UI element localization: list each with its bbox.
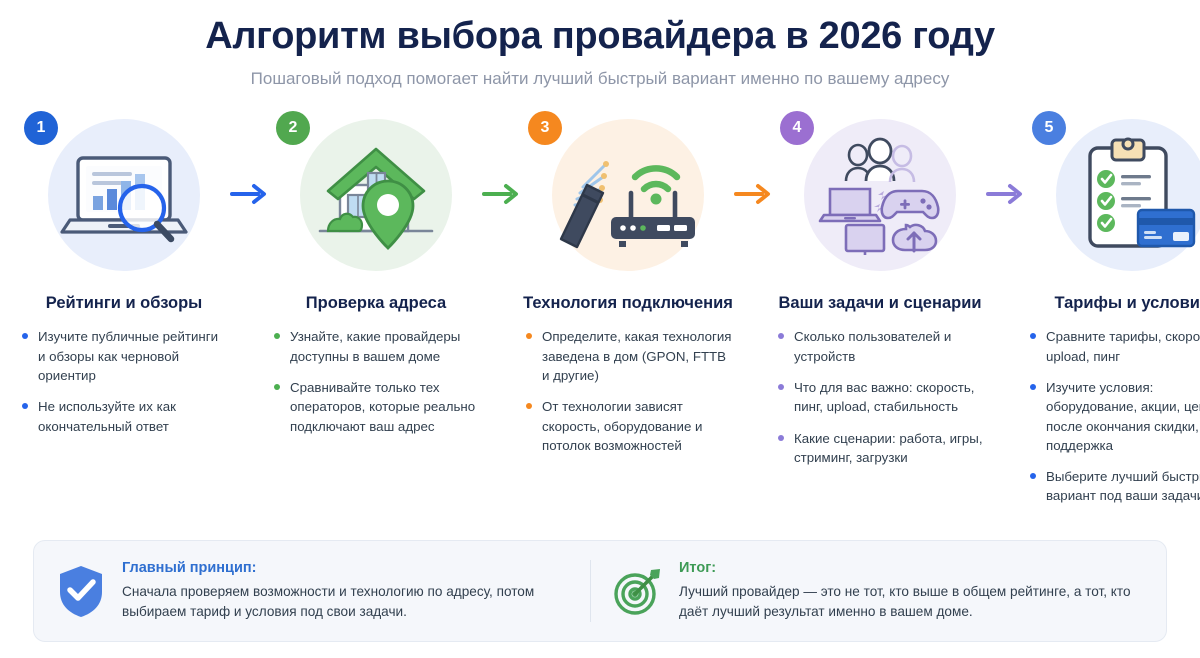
step-2-number: 2 [289, 120, 298, 136]
step-5-bullets: Сравните тарифы, скорость, upload, пинг … [1026, 327, 1200, 505]
step-5: 5 [1026, 109, 1200, 518]
target-arrow-icon [613, 566, 663, 616]
step-2-illustration: 2 [270, 109, 482, 279]
summary-panel: Главный принцип: Сначала проверяем возмо… [33, 540, 1167, 642]
step-5-number: 5 [1045, 120, 1054, 136]
arrow-right-icon [734, 183, 774, 205]
step-1-bullet-2: Не используйте их как окончательный отве… [22, 397, 228, 436]
step-1-badge: 1 [24, 111, 58, 145]
step-2: 2 Проверка адреса Узнайте, какие пр [270, 109, 482, 448]
step-1-title: Рейтинги и обзоры [18, 293, 230, 314]
arrow-step2-to-step3 [482, 109, 522, 279]
page-subtitle: Пошаговый подход помогает найти лучший б… [0, 69, 1200, 89]
steps-row: 1 Рейтинги и обзоры [0, 89, 1200, 518]
users-devices-icon [810, 133, 950, 255]
header: Алгоритм выбора провайдера в 2026 году П… [0, 0, 1200, 89]
step-3-bullet-1: Определите, какая технология заведена в … [526, 327, 732, 385]
step-2-bullets: Узнайте, какие провайдеры доступны в ваш… [270, 327, 482, 435]
step-4-illustration: 4 [774, 109, 986, 279]
step-3-bullet-2: От технологии зависят скорость, оборудов… [526, 397, 732, 455]
step-2-title: Проверка адреса [270, 293, 482, 314]
arrow-right-icon [986, 183, 1026, 205]
page-title: Алгоритм выбора провайдера в 2026 году [0, 14, 1200, 59]
laptop-chart-magnifier-icon [58, 136, 190, 252]
step-5-bullet-3: Выберите лучший быстрый вариант под ваши… [1030, 467, 1200, 506]
arrow-step3-to-step4 [734, 109, 774, 279]
step-3-title: Технология подключения [522, 293, 734, 314]
shield-check-icon [56, 563, 106, 619]
step-2-bullet-2: Сравнивайте только тех операторов, котор… [274, 378, 480, 436]
main-principle-label: Главный принцип: [122, 559, 568, 578]
arrow-right-icon [230, 183, 270, 205]
step-3-number: 3 [541, 120, 550, 136]
main-principle-text: Сначала проверяем возможности и технолог… [122, 582, 568, 622]
step-5-bullet-2: Изучите условия: оборудование, акции, це… [1030, 378, 1200, 455]
step-5-bullet-1: Сравните тарифы, скорость, upload, пинг [1030, 327, 1200, 366]
step-4-bullet-2: Что для вас важно: скорость, пинг, uploa… [778, 378, 984, 417]
fiber-cable-router-wifi-icon [553, 135, 703, 253]
step-2-bullet-1: Узнайте, какие провайдеры доступны в ваш… [274, 327, 480, 366]
step-4-bullet-3: Какие сценарии: работа, игры, стриминг, … [778, 429, 984, 468]
house-location-pin-icon [310, 135, 442, 253]
step-4: 4 [774, 109, 986, 479]
step-3-illustration: 3 [522, 109, 734, 279]
target-arrow-icon-wrap [613, 566, 663, 616]
step-4-title: Ваши задачи и сценарии [774, 293, 986, 314]
main-principle-note: Главный принцип: Сначала проверяем возмо… [34, 541, 590, 641]
step-4-bullet-1: Сколько пользователей и устройств [778, 327, 984, 366]
shield-check-icon-wrap [56, 563, 106, 619]
step-3-badge: 3 [528, 111, 562, 145]
step-1-illustration: 1 [18, 109, 230, 279]
step-5-illustration: 5 [1026, 109, 1200, 279]
step-3: 3 [522, 109, 734, 467]
result-label: Итог: [679, 559, 1144, 578]
clipboard-checklist-card-icon [1066, 134, 1198, 254]
step-1-bullet-1: Изучите публичные рейтинги и обзоры как … [22, 327, 228, 385]
step-1-bullets: Изучите публичные рейтинги и обзоры как … [18, 327, 230, 435]
step-2-badge: 2 [276, 111, 310, 145]
arrow-step1-to-step2 [230, 109, 270, 279]
step-5-badge: 5 [1032, 111, 1066, 145]
step-4-badge: 4 [780, 111, 814, 145]
step-1: 1 Рейтинги и обзоры [18, 109, 230, 448]
step-3-bullets: Определите, какая технология заведена в … [522, 327, 734, 455]
result-text: Лучший провайдер — это не тот, кто выше … [679, 582, 1144, 622]
result-note: Итог: Лучший провайдер — это не тот, кто… [591, 541, 1166, 641]
main-principle-body: Главный принцип: Сначала проверяем возмо… [122, 559, 568, 622]
step-5-title: Тарифы и условия [1026, 293, 1200, 314]
arrow-step4-to-step5 [986, 109, 1026, 279]
result-body: Итог: Лучший провайдер — это не тот, кто… [679, 559, 1144, 622]
step-1-number: 1 [37, 120, 46, 136]
infographic-page: Алгоритм выбора провайдера в 2026 году П… [0, 0, 1200, 658]
step-4-number: 4 [793, 120, 802, 136]
arrow-right-icon [482, 183, 522, 205]
step-4-bullets: Сколько пользователей и устройств Что дл… [774, 327, 986, 467]
